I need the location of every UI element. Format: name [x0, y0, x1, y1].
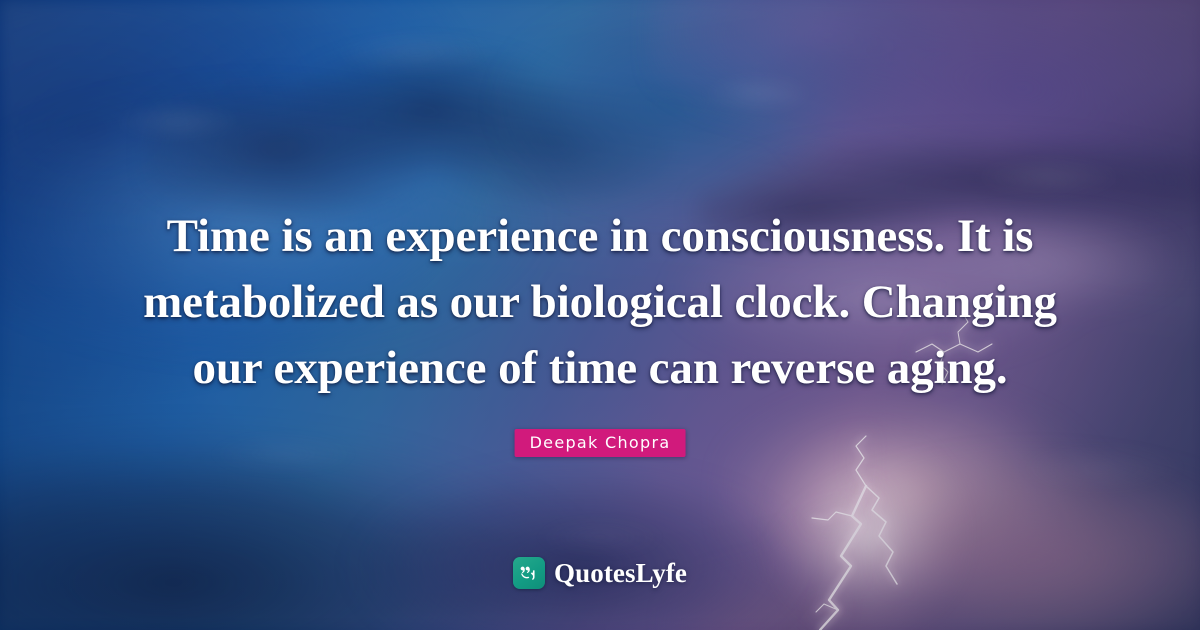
quote-block: Time is an experience in consciousness. … [0, 203, 1200, 401]
brand-name: QuotesLyfe [554, 558, 687, 588]
card-content: Time is an experience in consciousness. … [0, 0, 1200, 630]
quote-card: Time is an experience in consciousness. … [0, 0, 1200, 630]
quote-text: Time is an experience in consciousness. … [120, 203, 1080, 401]
quoteslyfe-logo-icon [513, 557, 545, 589]
brand-logo[interactable]: QuotesLyfe [513, 557, 687, 589]
author-badge[interactable]: Deepak Chopra [515, 429, 686, 457]
